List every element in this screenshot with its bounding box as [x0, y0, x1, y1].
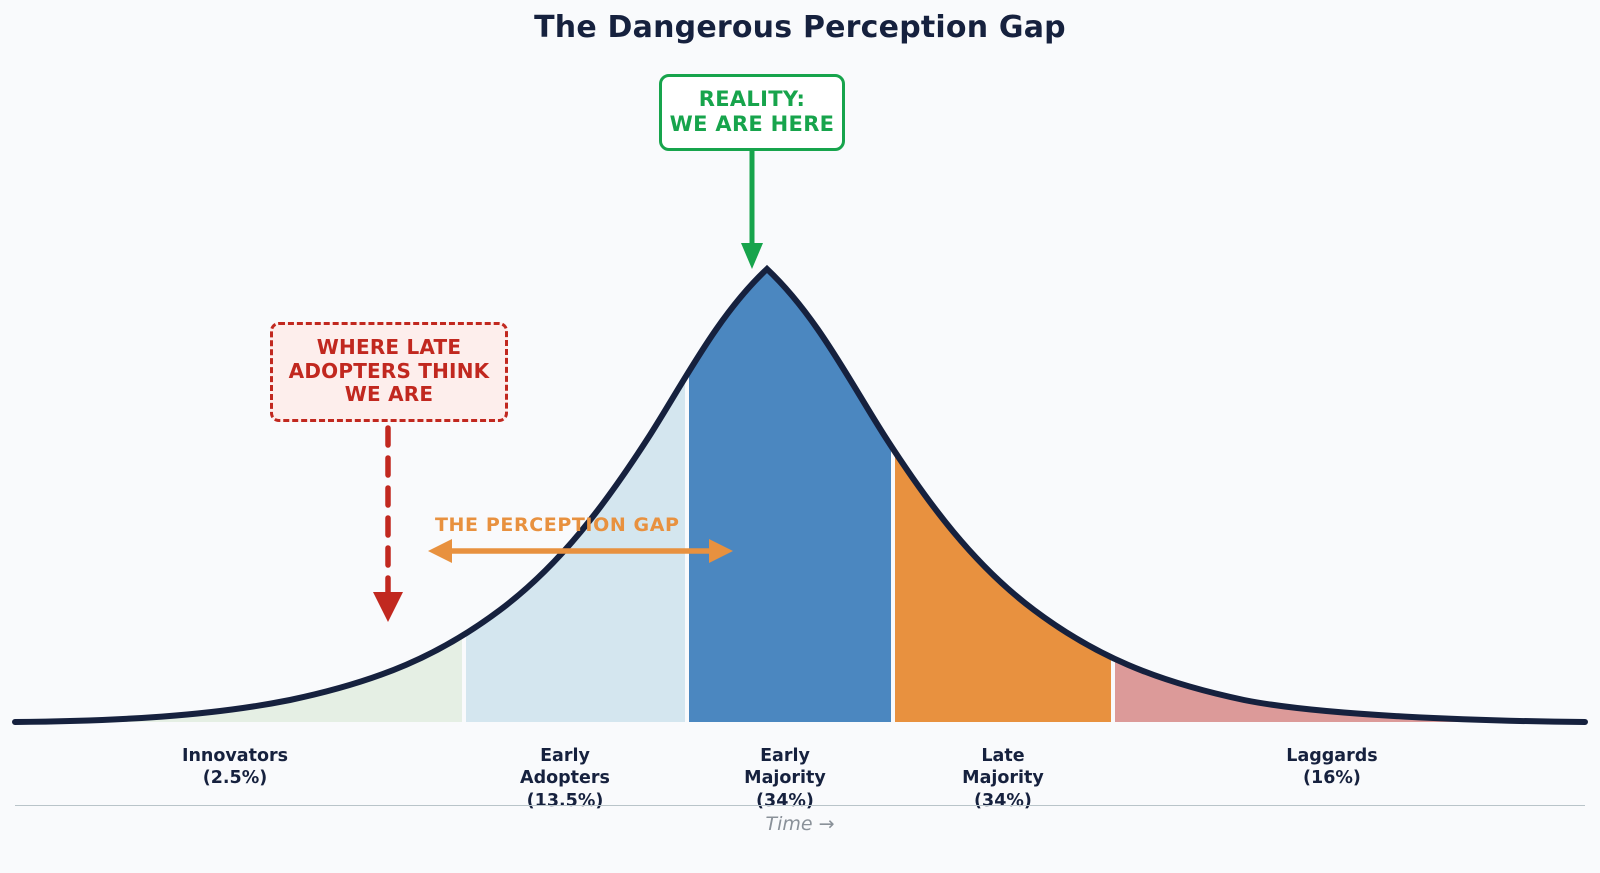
segment-late-majority	[895, 250, 1111, 723]
perception-gap-label: THE PERCEPTION GAP	[435, 514, 680, 536]
curve-segments	[15, 250, 1585, 723]
reality-callout: REALITY: WE ARE HERE	[659, 74, 845, 151]
late-adopters-callout: WHERE LATE ADOPTERS THINK WE ARE	[270, 322, 508, 422]
segment-laggards	[1115, 250, 1585, 723]
category-label-innovators: Innovators (2.5%)	[135, 745, 335, 790]
axis-divider	[15, 805, 1585, 806]
category-label-early-majority: Early Majority (34%)	[685, 745, 885, 812]
category-label-early-adopters: Early Adopters (13.5%)	[465, 745, 665, 812]
segment-early-adopters	[466, 250, 685, 723]
x-axis-label: Time →	[0, 813, 1600, 835]
diagram-canvas: The Dangerous Perception Gap	[0, 0, 1600, 873]
segment-innovators	[15, 250, 462, 723]
reality-arrow	[741, 140, 763, 269]
category-label-laggards: Laggards (16%)	[1232, 745, 1432, 790]
late-adopters-arrow	[373, 428, 403, 622]
category-label-late-majority: Late Majority (34%)	[903, 745, 1103, 812]
